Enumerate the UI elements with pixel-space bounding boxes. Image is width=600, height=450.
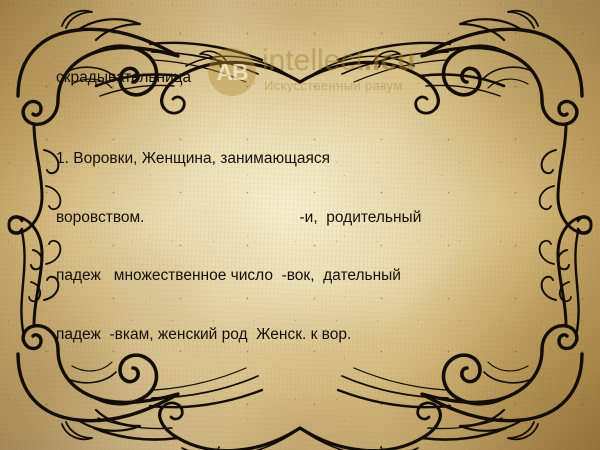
- definition-line: падеж множественное число -вок, дательны…: [56, 266, 556, 286]
- entry-definition: 1. Воровки, Женщина, занимающаяся воровс…: [56, 110, 556, 383]
- definition-line: 1. Воровки, Женщина, занимающаяся: [56, 149, 556, 169]
- parchment-page: AB intellect.icu Искусственный разум скр…: [0, 0, 600, 450]
- definition-line: воровством. -и, родительный: [56, 208, 556, 228]
- entry-headword: скрадывательница: [56, 68, 191, 88]
- dictionary-entry: скрадывательница 1. Воровки, Женщина, за…: [0, 0, 600, 450]
- definition-line: падеж -вкам, женский род Женск. к вор.: [56, 325, 556, 345]
